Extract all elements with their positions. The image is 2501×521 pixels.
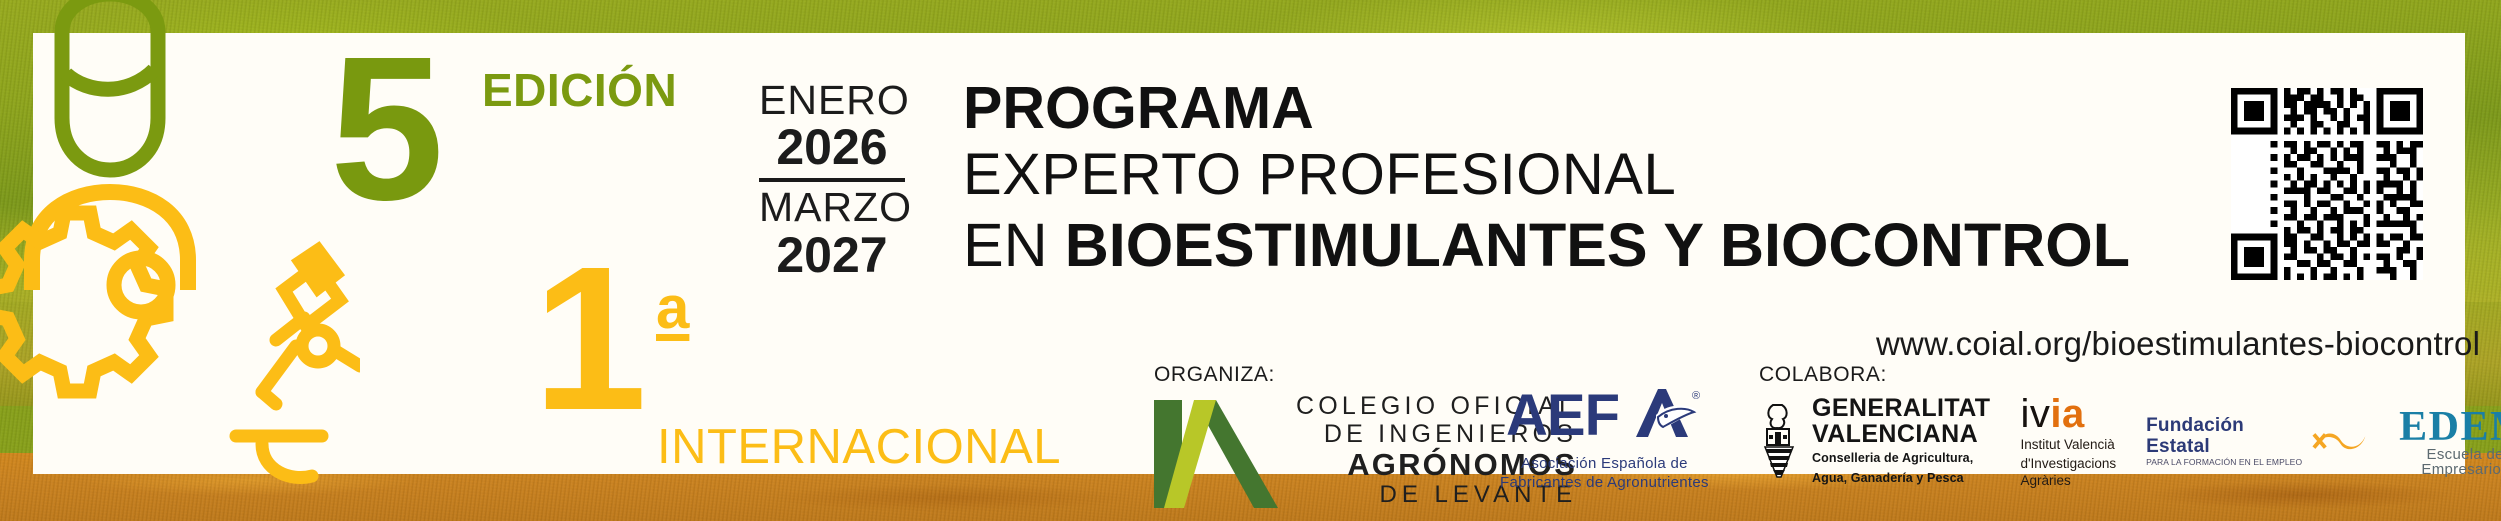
colabora-section: COLABORA: <box>1759 363 2501 490</box>
start-month: ENERO <box>759 79 905 122</box>
fundacion-ribbon-icon <box>2312 424 2369 458</box>
website-url[interactable]: www.coial.org/bioestimulantes-biocontrol <box>1876 325 2480 363</box>
title-line-3-prefix: EN <box>963 211 1065 279</box>
date-divider <box>759 178 905 182</box>
generalitat-sub-line-2: Agua, Ganadería y Pesca <box>1812 471 1990 487</box>
date-block: ENERO 2026 MARZO 2027 <box>759 79 905 281</box>
event-banner: 5 EDICIÓN 1 a INTERNACIONAL ENERO 2026 M… <box>0 0 2501 521</box>
title-line-3: EN BIOESTIMULANTES Y BIOCONTROL <box>963 210 2130 281</box>
end-month: MARZO <box>759 186 905 229</box>
generalitat-valenciana-logo: GENERALITAT VALENCIANA Conselleria de Ag… <box>1759 396 1990 486</box>
aefa-wordmark-icon: AEF ® <box>1506 385 1702 447</box>
ivia-word-ia: ia <box>2050 392 2084 436</box>
ivia-wordmark: ivia <box>2020 393 2116 435</box>
ivia-word-iv: iv <box>2020 392 2050 436</box>
generalitat-line-2: VALENCIANA <box>1812 422 1990 448</box>
fundacion-estatal-logo: Fundación Estatal PARA LA FORMACIÓN EN E… <box>2146 416 2369 467</box>
scientist-illustration <box>0 0 360 521</box>
microscope-icon <box>236 250 360 478</box>
aefa-sub-line-1: Asociación Española de <box>1500 454 1709 473</box>
title-line-3-bold: BIOESTIMULANTES Y BIOCONTROL <box>1065 211 2130 279</box>
edition-block: 5 EDICIÓN <box>330 41 438 217</box>
end-year: 2027 <box>759 230 905 281</box>
organiza-label: ORGANIZA: <box>1154 363 1577 387</box>
program-title: PROGRAMA EXPERTO PROFESIONAL EN BIOESTIM… <box>963 75 2130 280</box>
fundacion-wordmark: Fundación Estatal PARA LA FORMACIÓN EN E… <box>2146 416 2305 467</box>
international-label: INTERNACIONAL <box>657 419 1061 475</box>
edition-label: EDICIÓN <box>482 63 677 117</box>
svg-text:®: ® <box>1692 390 1700 402</box>
person-shoulders-icon <box>32 192 188 290</box>
edem-wordmark: EDEM <box>2399 405 2501 449</box>
content-card: 5 EDICIÓN 1 a INTERNACIONAL ENERO 2026 M… <box>33 33 2465 474</box>
ivia-logo: ivia Institut Valencià d'Investigacions … <box>2020 393 2116 490</box>
generalitat-wordmark: GENERALITAT VALENCIANA Conselleria de Ag… <box>1812 396 1990 486</box>
edition-number: 5 <box>330 41 438 217</box>
fundacion-line-2: PARA LA FORMACIÓN EN EL EMPLEO <box>2146 458 2305 467</box>
qr-code-icon[interactable] <box>2231 88 2423 280</box>
edem-subtitle: Escuela de Empresarios <box>2399 447 2501 479</box>
ivia-sub-line-1: Institut Valencià <box>2020 436 2116 454</box>
person-hair-icon <box>66 70 154 89</box>
ordinal-number: 1 <box>533 251 641 427</box>
ordinal-suffix: a <box>656 273 689 342</box>
coial-logo-icon <box>1154 400 1278 508</box>
fundacion-line-1: Fundación Estatal <box>2146 416 2305 458</box>
ivia-sub-line-2: d'Investigacions Agràries <box>2020 455 2116 490</box>
aefa-sub-line-2: Fabricantes de Agronutrientes <box>1500 473 1709 492</box>
title-line-2: EXPERTO PROFESIONAL <box>963 141 2130 209</box>
generalitat-shield-icon <box>1759 403 1803 479</box>
generalitat-sub-line-1: Conselleria de Agricultura, <box>1812 451 1990 467</box>
colabora-logos: GENERALITAT VALENCIANA Conselleria de Ag… <box>1759 393 2501 490</box>
svg-text:AEF: AEF <box>1506 385 1619 447</box>
aefa-subtitle: Asociación Española de Fabricantes de Ag… <box>1500 454 1709 492</box>
colabora-label: COLABORA: <box>1759 363 2501 387</box>
edem-logo: EDEM Escuela de Empresarios <box>2399 405 2501 479</box>
aefa-logo: AEF ® Asociación Española de Fabricantes… <box>1500 385 1709 492</box>
first-international-block: 1 a INTERNACIONAL <box>533 251 641 427</box>
start-year: 2026 <box>759 122 905 173</box>
title-line-1: PROGRAMA <box>963 75 2130 141</box>
generalitat-line-1: GENERALITAT <box>1812 396 1990 422</box>
